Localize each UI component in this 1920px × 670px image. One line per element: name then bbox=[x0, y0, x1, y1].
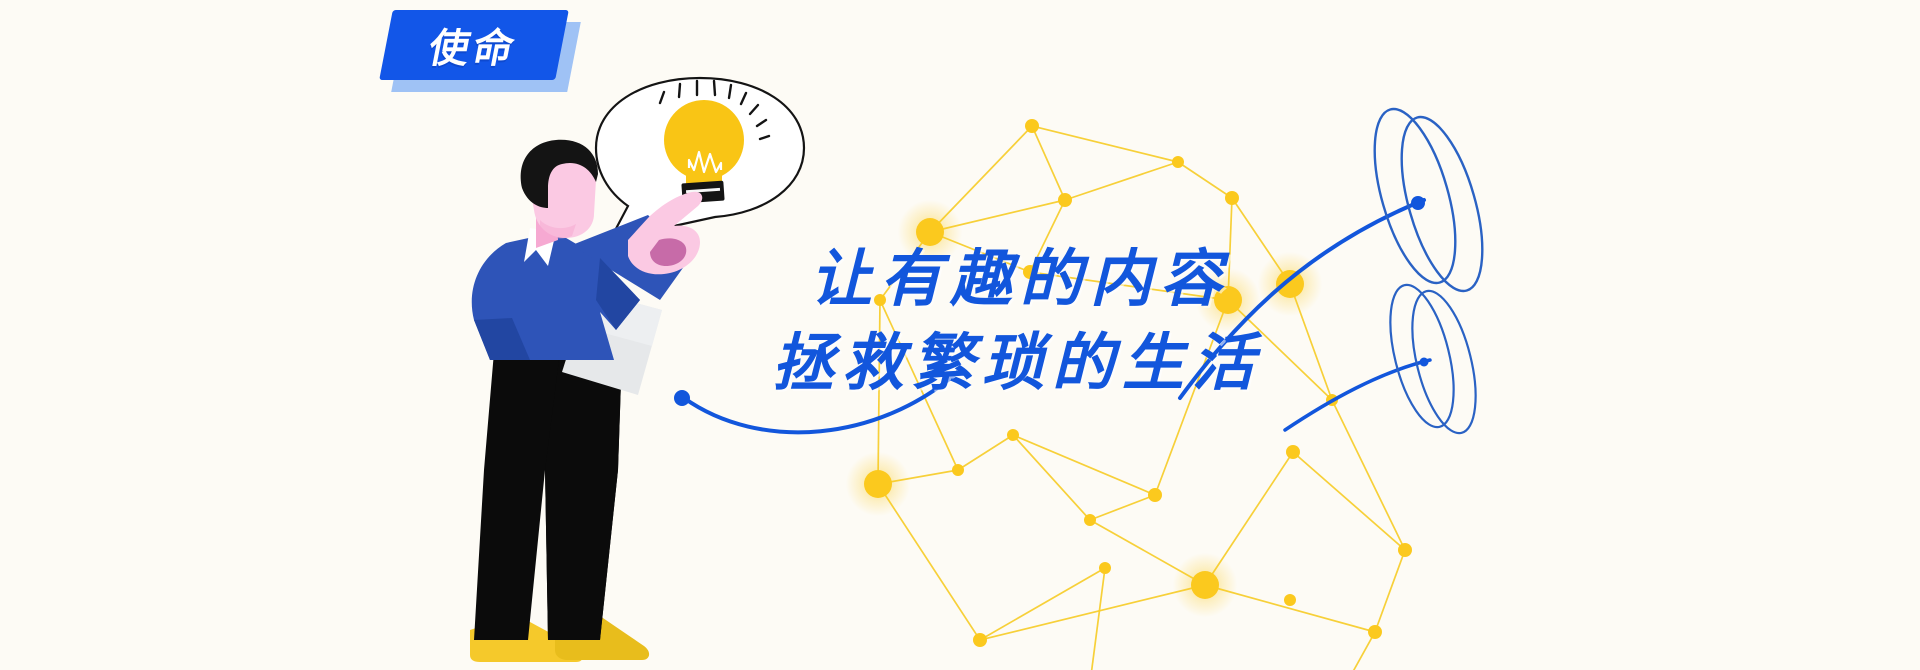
mission-badge: 使命 bbox=[386, 10, 566, 84]
mission-banner: 让有趣的内容 拯救繁琐的生活 使命 bbox=[0, 0, 1920, 670]
headline: 让有趣的内容 拯救繁琐的生活 bbox=[810, 238, 1262, 406]
headline-line-2: 拯救繁琐的生活 bbox=[772, 322, 1262, 406]
speech-bubble bbox=[596, 78, 804, 240]
pants bbox=[474, 352, 622, 640]
mission-badge-label: 使命 bbox=[379, 10, 569, 80]
headline-line-1: 让有趣的内容 bbox=[810, 238, 1262, 322]
